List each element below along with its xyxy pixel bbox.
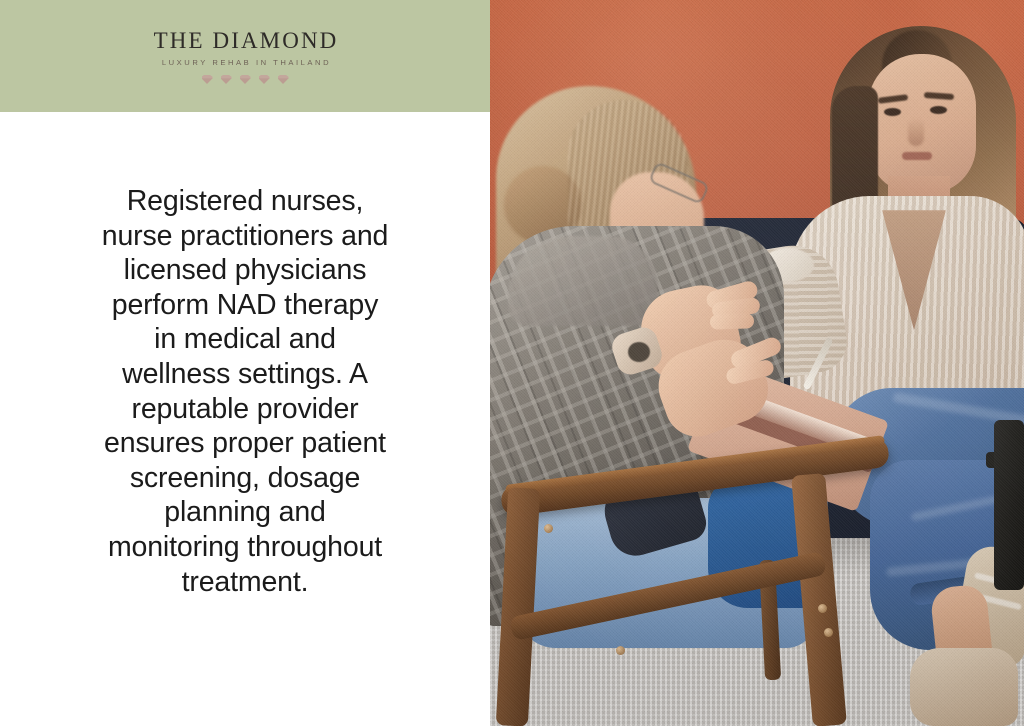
brand-bar: THE DIAMOND LUXURY REHAB IN THAILAND bbox=[0, 0, 490, 112]
text-panel: THE DIAMOND LUXURY REHAB IN THAILAND Reg… bbox=[0, 0, 490, 726]
blonde-finger bbox=[710, 313, 754, 330]
brunette-sandal-front bbox=[910, 648, 1018, 726]
dark-chair-leg bbox=[994, 420, 1024, 590]
diamond-icon bbox=[259, 75, 270, 84]
diamond-icon bbox=[221, 75, 232, 84]
brunette-mouth bbox=[902, 152, 932, 160]
body-copy-wrapper: Registered nurses, nurse practitioners a… bbox=[0, 112, 490, 726]
watch-face bbox=[628, 342, 650, 362]
diamond-icon bbox=[240, 75, 251, 84]
chair-screw bbox=[824, 628, 833, 637]
info-card: THE DIAMOND LUXURY REHAB IN THAILAND Reg… bbox=[0, 0, 1024, 726]
brand-wordmark: THE DIAMOND bbox=[152, 28, 339, 53]
blonde-shoulder bbox=[508, 236, 658, 326]
brunette-eye-left bbox=[884, 108, 901, 116]
diamond-icon bbox=[202, 75, 213, 84]
brand-logo[interactable]: THE DIAMOND LUXURY REHAB IN THAILAND bbox=[152, 28, 339, 84]
chair-screw bbox=[616, 646, 625, 655]
body-copy: Registered nurses, nurse practitioners a… bbox=[99, 184, 391, 599]
counseling-session-photo bbox=[490, 0, 1024, 726]
brunette-eye-right bbox=[930, 106, 947, 114]
brand-tagline: LUXURY REHAB IN THAILAND bbox=[159, 58, 331, 68]
diamond-ornament-row bbox=[202, 75, 289, 84]
diamond-icon bbox=[278, 75, 289, 84]
chair-screw bbox=[544, 524, 553, 533]
chair-screw bbox=[818, 604, 827, 613]
brunette-nose bbox=[908, 118, 924, 146]
